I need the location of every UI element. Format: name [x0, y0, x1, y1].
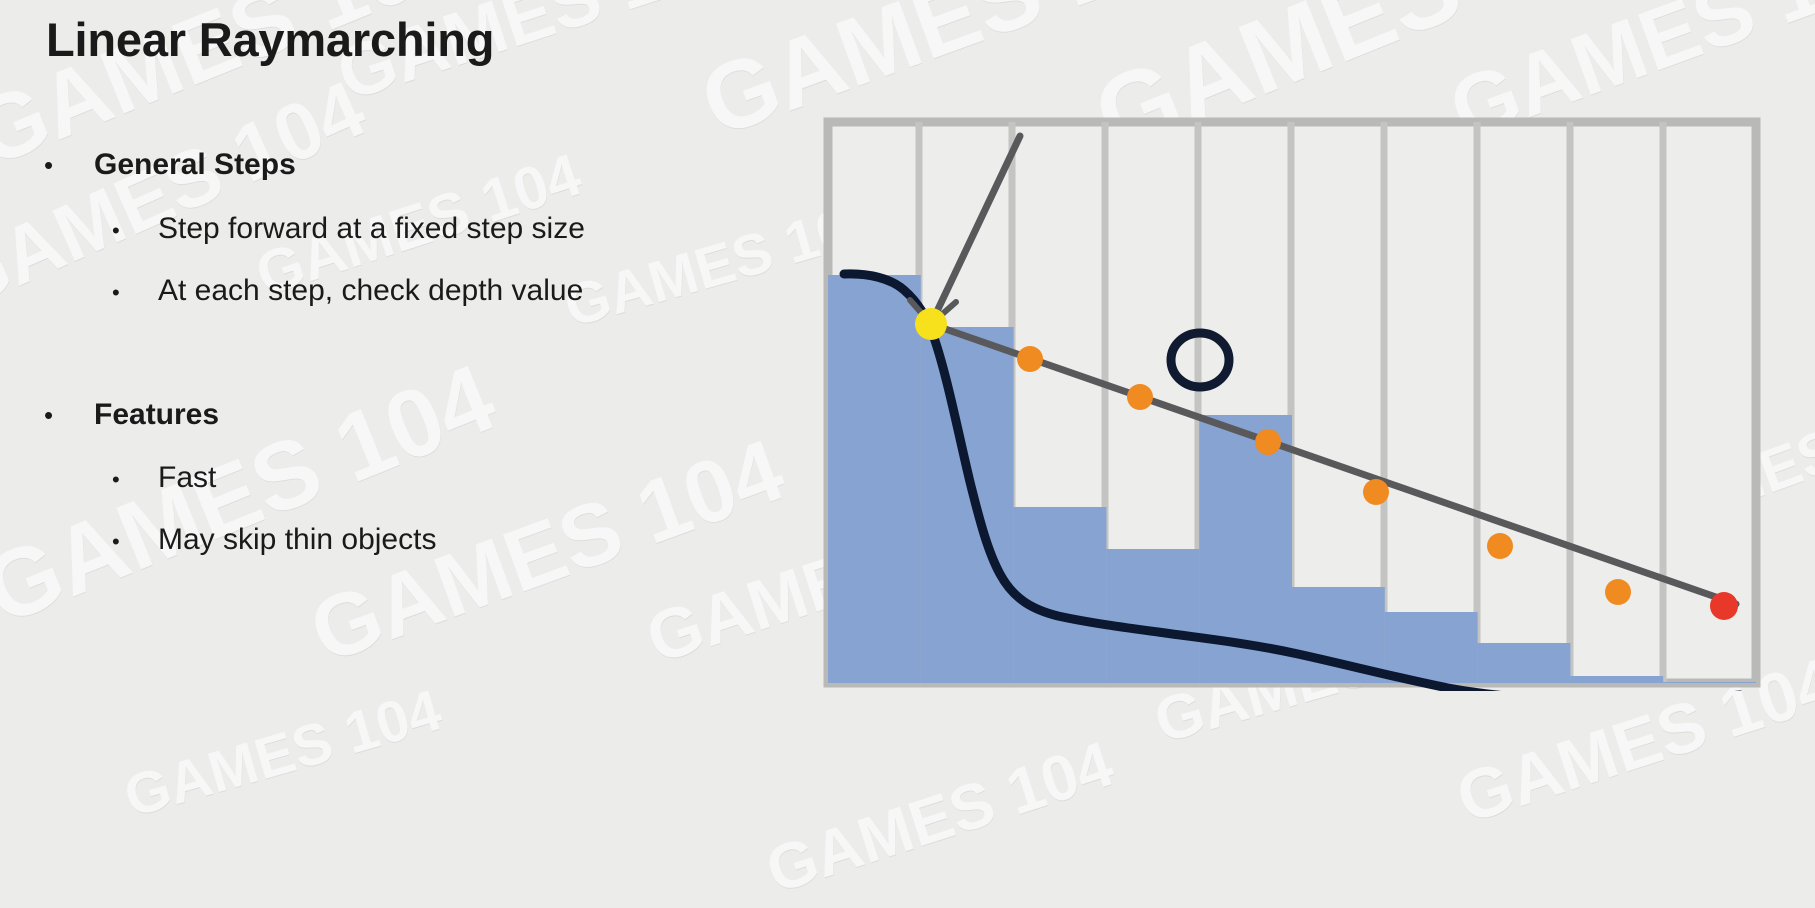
depth-bar	[1385, 612, 1478, 683]
bullet-marker-icon: •	[112, 220, 158, 242]
depth-bar	[1663, 682, 1756, 683]
page-title: Linear Raymarching	[46, 12, 494, 67]
ray-hit-dot	[1710, 592, 1738, 620]
depth-bar	[921, 327, 1014, 683]
depth-bar	[1106, 549, 1199, 683]
depth-bar	[828, 275, 921, 683]
ray-start-dot	[915, 308, 947, 340]
bullet-thin-objects-label: May skip thin objects	[158, 523, 436, 557]
bullet-marker-icon: •	[44, 402, 94, 428]
depth-bar	[1478, 643, 1571, 683]
slide-root: Linear Raymarching • General Steps • Ste…	[0, 0, 1815, 898]
raymarching-svg	[816, 111, 1766, 691]
bullet-features-label: Features	[94, 398, 219, 432]
bullet-marker-icon: •	[112, 531, 158, 553]
bullet-fast-label: Fast	[158, 461, 216, 495]
bullet-marker-icon: •	[112, 469, 158, 491]
ray-sample-dot	[1127, 384, 1153, 410]
bullet-general-steps-label: General Steps	[94, 148, 296, 182]
bullet-thin-objects: • May skip thin objects	[112, 523, 436, 557]
bullet-marker-icon: •	[44, 152, 94, 178]
ray-sample-dot	[1017, 346, 1043, 372]
bullet-fast: • Fast	[112, 461, 216, 495]
bullet-check-depth-label: At each step, check depth value	[158, 274, 583, 308]
bullet-check-depth: • At each step, check depth value	[112, 274, 583, 308]
bullet-step-forward-label: Step forward at a fixed step size	[158, 212, 585, 246]
bullet-step-forward: • Step forward at a fixed step size	[112, 212, 585, 246]
ray-sample-dot	[1363, 479, 1389, 505]
ray-sample-dot	[1605, 579, 1631, 605]
linear-raymarching-diagram	[816, 111, 1766, 691]
bullet-marker-icon: •	[112, 282, 158, 304]
bullet-features: • Features	[44, 398, 219, 432]
ray-sample-dot	[1255, 429, 1281, 455]
depth-bar	[1014, 507, 1107, 683]
depth-bar	[1570, 676, 1663, 683]
bullet-general-steps: • General Steps	[44, 148, 296, 182]
ray-sample-dot	[1487, 533, 1513, 559]
